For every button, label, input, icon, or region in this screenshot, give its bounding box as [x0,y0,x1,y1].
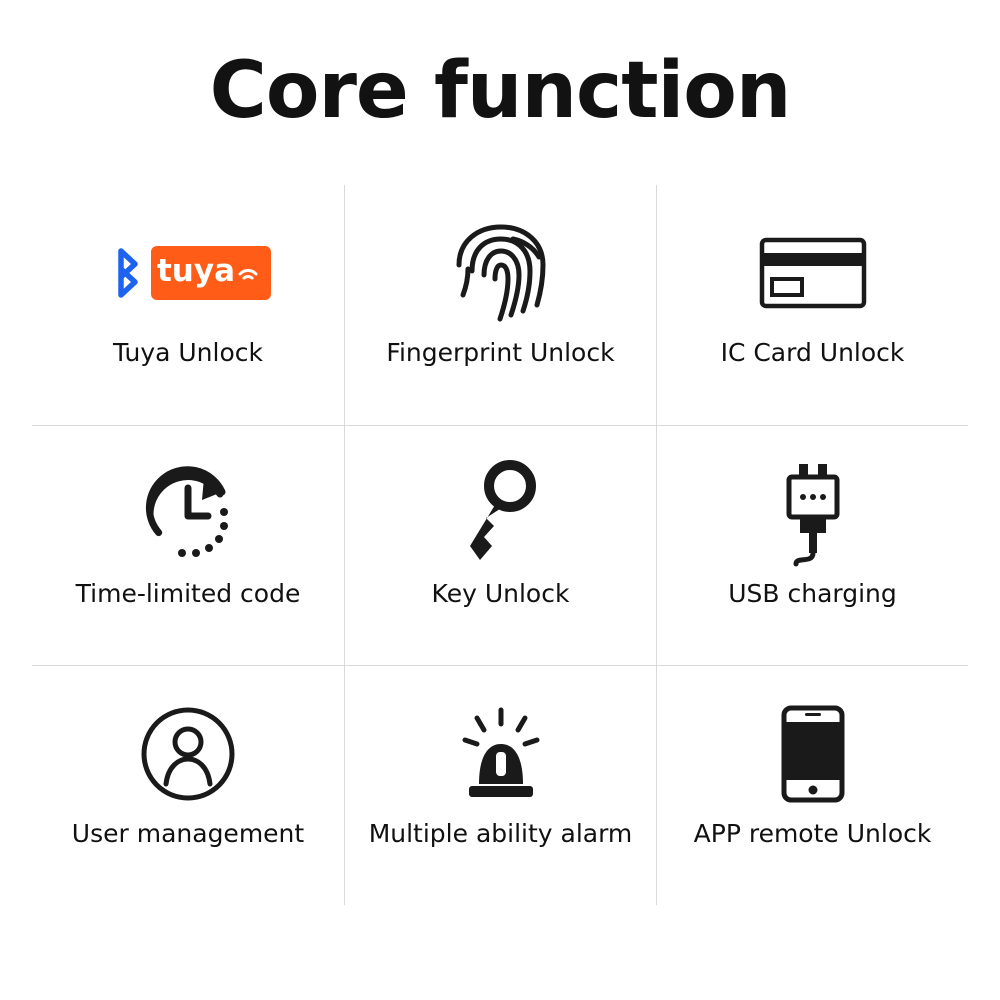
feature-label: Fingerprint Unlock [386,339,614,367]
feature-label: Time-limited code [76,580,301,608]
wifi-signal-icon [237,262,259,284]
feature-cell-key-unlock[interactable]: Key Unlock [344,425,656,665]
feature-label: Tuya Unlock [113,339,263,367]
feature-label: Key Unlock [432,580,570,608]
feature-cell-fingerprint-unlock[interactable]: Fingerprint Unlock [344,185,656,425]
feature-cell-ic-card-unlock[interactable]: IC Card Unlock [656,185,968,425]
feature-cell-usb-charging[interactable]: USB charging [656,425,968,665]
ic-card-icon [759,213,867,333]
feature-cell-multiple-ability-alarm[interactable]: Multiple ability alarm [344,665,656,905]
feature-label: APP remote Unlock [694,820,932,848]
tuya-logo-icon: tuya [105,213,271,333]
feature-cell-app-remote-unlock[interactable]: APP remote Unlock [656,665,968,905]
feature-label: IC Card Unlock [721,339,905,367]
tuya-wordmark: tuya [151,246,271,300]
clock-timer-icon [136,454,240,574]
feature-cell-tuya-unlock[interactable]: tuya Tuya Unlock [32,185,344,425]
core-function-infographic: Core function tuya [0,0,1000,1000]
usb-plug-icon [774,454,852,574]
fingerprint-icon [453,213,549,333]
page-title: Core function [0,52,1000,130]
feature-label: Multiple ability alarm [369,820,633,848]
smartphone-icon [780,694,846,814]
feature-cell-user-management[interactable]: User management [32,665,344,905]
feature-label: User management [72,820,304,848]
key-icon [458,454,544,574]
user-circle-icon [138,694,238,814]
feature-grid: tuya Tuya Unlock [32,185,968,905]
alarm-siren-icon [453,694,549,814]
feature-label: USB charging [728,580,897,608]
feature-cell-time-limited-code[interactable]: Time-limited code [32,425,344,665]
bluetooth-icon [105,246,151,300]
